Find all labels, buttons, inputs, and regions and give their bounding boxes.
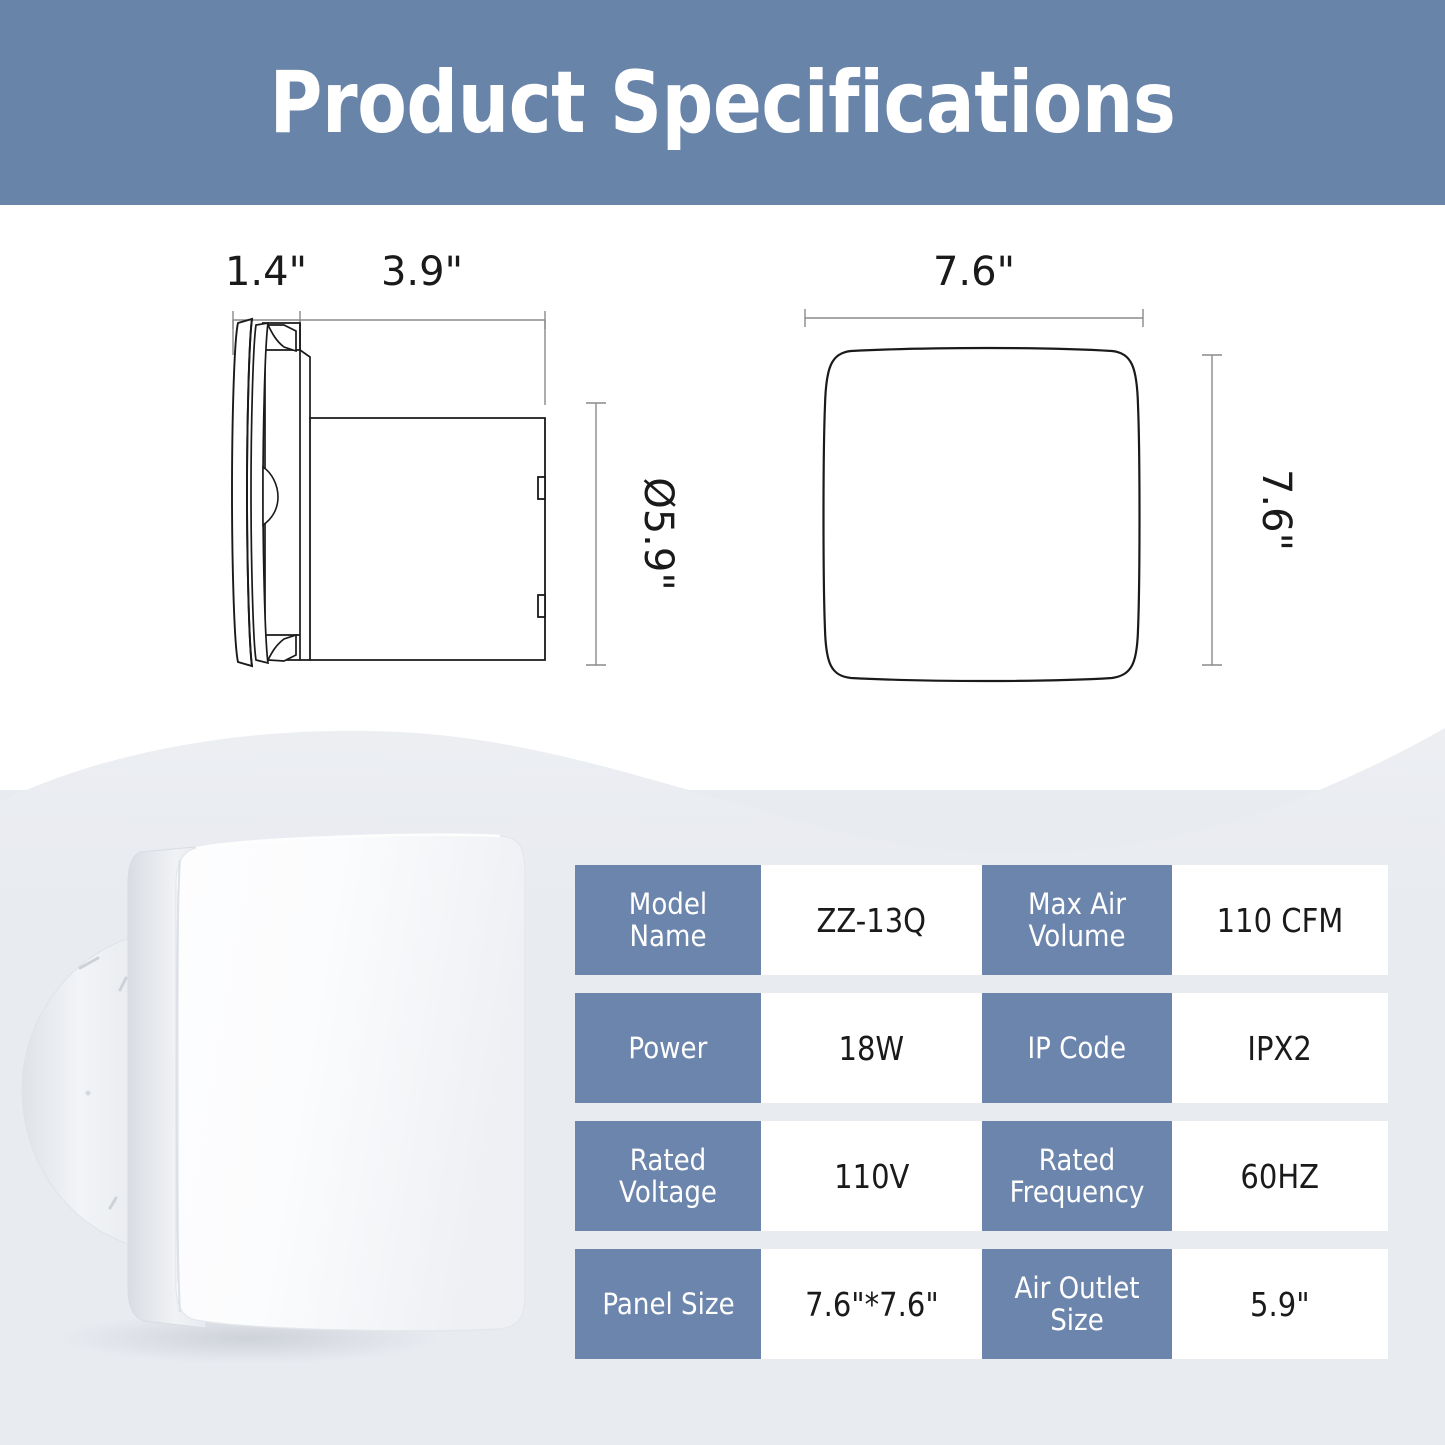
dimension-label-1-4: 1.4" — [225, 249, 307, 295]
side-view-drawing: 1.4" 3.9" — [225, 249, 681, 666]
technical-drawings-area: 1.4" 3.9" — [0, 205, 1445, 765]
spec-label-panel-size: Panel Size — [575, 1249, 761, 1359]
side-view-front-panel — [232, 319, 252, 666]
spec-label-model-name: Model Name — [575, 865, 761, 975]
spec-value-rated-voltage: 110V — [761, 1121, 982, 1231]
spec-label-max-air-volume: Max Air Volume — [982, 865, 1172, 975]
panel-front-face — [176, 835, 525, 1331]
spec-value-rated-frequency: 60HZ — [1172, 1121, 1388, 1231]
table-row: Model Name ZZ-13Q Max Air Volume 110 CFM — [575, 865, 1388, 975]
spec-label-power: Power — [575, 993, 761, 1103]
spec-value-air-outlet-size: 5.9" — [1172, 1249, 1388, 1359]
spec-value-panel-size: 7.6"*7.6" — [761, 1249, 982, 1359]
front-view-drawing: 7.6" 7.6" — [805, 249, 1299, 681]
spec-label-ip-code: IP Code — [982, 993, 1172, 1103]
dimension-label-height-7-6: 7.6" — [1253, 469, 1299, 551]
table-row: Power 18W IP Code IPX2 — [575, 993, 1388, 1103]
spec-label-rated-frequency: Rated Frequency — [982, 1121, 1172, 1231]
side-view-center-bulge — [263, 467, 278, 525]
table-row: Rated Voltage 110V Rated Frequency 60HZ — [575, 1121, 1388, 1231]
spec-label-air-outlet-size: Air Outlet Size — [982, 1249, 1172, 1359]
side-view-hook-bottom — [268, 635, 296, 661]
side-view-body — [310, 418, 545, 660]
dimension-label-diameter-5-9: Ø5.9" — [635, 477, 681, 591]
front-view-horizontal-dimension — [805, 309, 1143, 327]
page-title: Product Specifications — [116, 0, 1330, 205]
header-banner: Product Specifications — [0, 0, 1445, 205]
product-photo — [0, 790, 560, 1445]
front-panel-outline — [824, 348, 1140, 681]
spec-label-rated-voltage: Rated Voltage — [575, 1121, 761, 1231]
spec-value-model-name: ZZ-13Q — [761, 865, 982, 975]
spec-value-ip-code: IPX2 — [1172, 993, 1388, 1103]
front-view-vertical-dimension — [1202, 355, 1222, 665]
side-view-vertical-dimension — [586, 403, 606, 665]
table-row: Panel Size 7.6"*7.6" Air Outlet Size 5.9… — [575, 1249, 1388, 1359]
product-specifications-page: Product Specifications — [0, 0, 1445, 1445]
specification-table: Model Name ZZ-13Q Max Air Volume 110 CFM… — [575, 865, 1388, 1359]
spec-value-max-air-volume: 110 CFM — [1172, 865, 1388, 975]
dimension-label-width-7-6: 7.6" — [933, 249, 1015, 295]
spec-value-power: 18W — [761, 993, 982, 1103]
dimension-label-3-9: 3.9" — [381, 249, 463, 295]
technical-drawings-svg: 1.4" 3.9" — [0, 205, 1445, 765]
